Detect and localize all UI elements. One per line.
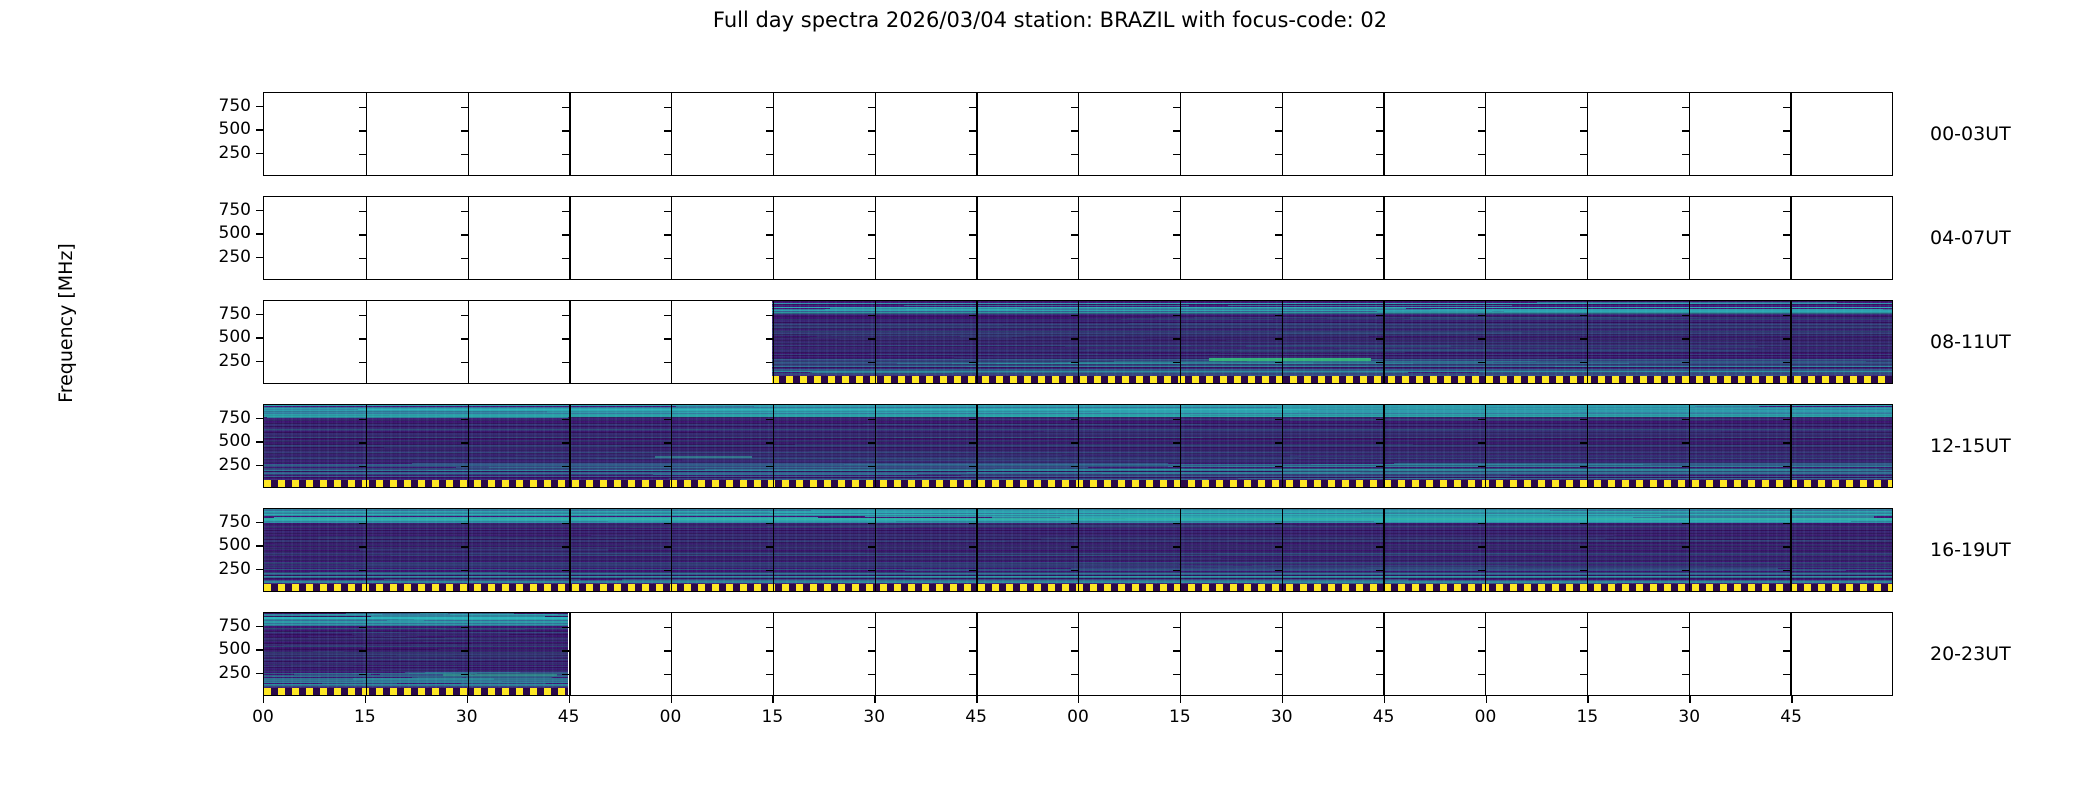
y-tick-mark [766, 130, 773, 131]
y-tick-mark [664, 107, 671, 108]
y-tick-mark [1173, 315, 1180, 316]
y-tick-mark [1173, 338, 1180, 339]
y-tick-mark [1478, 315, 1485, 316]
column-separator [976, 93, 977, 175]
y-tick-mark [1783, 211, 1790, 212]
x-tick-mark [1282, 696, 1283, 703]
y-tick-mark [868, 523, 875, 524]
y-tick-mark [969, 338, 976, 339]
column-separator [1689, 197, 1690, 279]
y-tick-mark [1173, 419, 1180, 420]
y-tick-mark [1376, 130, 1383, 131]
x-tick-label: 45 [558, 707, 580, 727]
y-tick-mark [1478, 570, 1485, 571]
y-tick-mark [1682, 627, 1689, 628]
column-separator [1282, 93, 1283, 175]
x-tick-label: 00 [1067, 707, 1089, 727]
y-tick-mark [461, 627, 468, 628]
y-tick-mark [1071, 258, 1078, 259]
y-tick-mark [1376, 154, 1383, 155]
y-tick-mark [969, 362, 976, 363]
spectrogram-row: 250500750 [263, 300, 1893, 384]
y-tick-mark [1376, 234, 1383, 235]
y-tick-mark [1071, 211, 1078, 212]
column-separator [1790, 93, 1791, 175]
y-tick-mark [1478, 211, 1485, 212]
y-tick-mark [868, 211, 875, 212]
x-tick-label: 30 [1678, 707, 1700, 727]
y-tick-mark [1682, 338, 1689, 339]
y-tick-mark [1682, 211, 1689, 212]
y-tick-mark [1580, 258, 1587, 259]
y-tick-label: 250 [219, 247, 251, 267]
y-tick-mark [562, 466, 569, 467]
y-tick-mark [1682, 570, 1689, 571]
column-separator [773, 197, 774, 279]
y-tick-mark [1783, 627, 1790, 628]
x-tick-label: 45 [1373, 707, 1395, 727]
y-tick-mark [562, 315, 569, 316]
column-separator [671, 405, 672, 487]
y-tick-mark [359, 107, 366, 108]
y-tick-mark [562, 627, 569, 628]
y-tick-label: 500 [219, 119, 251, 139]
column-separator [1790, 301, 1791, 383]
row-time-label: 00-03UT [1930, 123, 2011, 145]
y-tick-mark [1071, 650, 1078, 651]
column-separator [1485, 301, 1486, 383]
y-tick-mark [664, 674, 671, 675]
y-tick-mark [1275, 442, 1282, 443]
y-tick-mark [256, 465, 263, 466]
y-tick-mark [1478, 130, 1485, 131]
y-tick-mark [359, 523, 366, 524]
y-tick-label: 250 [219, 455, 251, 475]
column-separator [976, 197, 977, 279]
x-tick-label: 30 [456, 707, 478, 727]
y-tick-mark [256, 257, 263, 258]
y-tick-mark [664, 338, 671, 339]
y-tick-mark [1478, 234, 1485, 235]
x-tick-mark [976, 696, 977, 703]
y-tick-mark [461, 674, 468, 675]
x-tick-mark [1689, 696, 1690, 703]
y-tick-mark [461, 154, 468, 155]
y-tick-mark [1275, 234, 1282, 235]
y-tick-mark [664, 570, 671, 571]
y-tick-mark [359, 211, 366, 212]
y-tick-mark [359, 315, 366, 316]
y-tick-mark [1376, 442, 1383, 443]
column-separator [1587, 301, 1588, 383]
y-tick-mark [1376, 211, 1383, 212]
y-tick-label: 500 [219, 639, 251, 659]
y-tick-mark [1682, 234, 1689, 235]
column-separator [1587, 197, 1588, 279]
y-tick-mark [766, 315, 773, 316]
y-tick-mark [256, 522, 263, 523]
y-tick-mark [868, 258, 875, 259]
y-tick-mark [969, 234, 976, 235]
column-separator [1078, 405, 1079, 487]
y-tick-mark [1478, 258, 1485, 259]
column-separator [569, 405, 570, 487]
y-tick-mark [562, 570, 569, 571]
column-separator [773, 509, 774, 591]
y-tick-mark [868, 338, 875, 339]
y-tick-mark [461, 211, 468, 212]
spectrogram-figure: Full day spectra 2026/03/04 station: BRA… [0, 0, 2100, 800]
y-tick-mark [1173, 234, 1180, 235]
y-tick-mark [256, 361, 263, 362]
column-separator [1282, 405, 1283, 487]
x-tick-label: 00 [252, 707, 274, 727]
x-tick-label: 30 [1271, 707, 1293, 727]
y-tick-label: 500 [219, 327, 251, 347]
y-tick-mark [1071, 546, 1078, 547]
column-separator [1282, 197, 1283, 279]
y-tick-mark [1376, 258, 1383, 259]
y-tick-mark [1580, 442, 1587, 443]
y-tick-mark [1071, 442, 1078, 443]
y-tick-mark [1071, 362, 1078, 363]
y-tick-mark [1376, 362, 1383, 363]
y-tick-mark [1682, 466, 1689, 467]
y-tick-label: 750 [219, 96, 251, 116]
x-tick-label: 15 [354, 707, 376, 727]
column-separator [1587, 509, 1588, 591]
y-tick-mark [562, 650, 569, 651]
x-tick-label: 15 [1169, 707, 1191, 727]
y-tick-mark [1173, 546, 1180, 547]
y-tick-mark [969, 211, 976, 212]
y-tick-mark [1376, 419, 1383, 420]
y-tick-label: 750 [219, 408, 251, 428]
y-tick-mark [766, 419, 773, 420]
y-tick-mark [1580, 211, 1587, 212]
y-tick-mark [1783, 258, 1790, 259]
y-tick-mark [969, 627, 976, 628]
y-tick-mark [1478, 674, 1485, 675]
y-tick-mark [1783, 338, 1790, 339]
y-tick-mark [969, 650, 976, 651]
y-tick-mark [664, 154, 671, 155]
y-tick-mark [359, 258, 366, 259]
x-tick-label: 15 [762, 707, 784, 727]
y-tick-mark [562, 419, 569, 420]
y-tick-mark [1275, 107, 1282, 108]
y-tick-mark [256, 441, 263, 442]
y-tick-mark [1682, 674, 1689, 675]
y-tick-label: 500 [219, 223, 251, 243]
x-tick-mark [1384, 696, 1385, 703]
y-tick-mark [1071, 627, 1078, 628]
y-tick-mark [256, 106, 263, 107]
column-separator [976, 301, 977, 383]
y-tick-mark [1478, 338, 1485, 339]
row-time-label: 04-07UT [1930, 227, 2011, 249]
y-tick-mark [1580, 362, 1587, 363]
x-tick-mark [1791, 696, 1792, 703]
column-separator [671, 509, 672, 591]
y-tick-mark [562, 258, 569, 259]
y-tick-mark [1275, 154, 1282, 155]
y-tick-mark [766, 362, 773, 363]
y-tick-mark [868, 546, 875, 547]
y-tick-mark [1275, 130, 1282, 131]
y-tick-mark [1580, 130, 1587, 131]
y-tick-mark [562, 338, 569, 339]
y-tick-mark [1783, 442, 1790, 443]
x-tick-mark [263, 696, 264, 703]
y-tick-label: 250 [219, 559, 251, 579]
y-axis-label: Frequency [MHz] [55, 193, 77, 453]
y-tick-mark [969, 466, 976, 467]
column-separator [1587, 405, 1588, 487]
y-tick-label: 250 [219, 663, 251, 683]
y-tick-mark [461, 546, 468, 547]
column-separator [1180, 197, 1181, 279]
y-tick-mark [1580, 338, 1587, 339]
y-tick-mark [461, 466, 468, 467]
y-tick-mark [461, 523, 468, 524]
y-tick-mark [461, 419, 468, 420]
y-tick-mark [359, 419, 366, 420]
y-tick-mark [1071, 419, 1078, 420]
y-tick-mark [664, 627, 671, 628]
y-tick-mark [359, 362, 366, 363]
column-separator [671, 93, 672, 175]
y-tick-mark [766, 570, 773, 571]
y-tick-mark [1376, 570, 1383, 571]
column-separator [1689, 301, 1690, 383]
y-tick-mark [1478, 546, 1485, 547]
y-tick-mark [1275, 466, 1282, 467]
column-separator [569, 197, 570, 279]
y-tick-mark [664, 315, 671, 316]
y-tick-mark [1071, 674, 1078, 675]
column-separator [773, 93, 774, 175]
column-separator [875, 93, 876, 175]
plot-axes [263, 196, 1893, 280]
y-tick-mark [664, 362, 671, 363]
y-tick-mark [461, 234, 468, 235]
column-separator [1383, 197, 1384, 279]
y-tick-mark [969, 154, 976, 155]
column-separator [1383, 301, 1384, 383]
y-tick-mark [1376, 315, 1383, 316]
y-tick-mark [1071, 466, 1078, 467]
y-tick-mark [1783, 130, 1790, 131]
row-time-label: 16-19UT [1930, 539, 2011, 561]
column-separator [1180, 93, 1181, 175]
column-separator [1587, 93, 1588, 175]
x-tick-label: 45 [965, 707, 987, 727]
y-tick-mark [1173, 258, 1180, 259]
y-tick-mark [1173, 442, 1180, 443]
column-separator [1180, 613, 1181, 695]
y-tick-mark [1376, 674, 1383, 675]
marker-dashed-line [772, 376, 1892, 383]
column-separator [1078, 509, 1079, 591]
y-tick-mark [256, 569, 263, 570]
y-tick-mark [664, 234, 671, 235]
column-separator [1485, 509, 1486, 591]
column-separator [1689, 93, 1690, 175]
y-tick-mark [766, 107, 773, 108]
y-tick-mark [1071, 107, 1078, 108]
y-tick-mark [868, 442, 875, 443]
column-separator [1180, 405, 1181, 487]
y-tick-mark [766, 627, 773, 628]
y-tick-mark [461, 362, 468, 363]
y-tick-mark [256, 337, 263, 338]
x-tick-label: 30 [863, 707, 885, 727]
y-tick-mark [1783, 466, 1790, 467]
y-tick-mark [969, 258, 976, 259]
column-separator [1180, 301, 1181, 383]
y-tick-mark [1275, 570, 1282, 571]
plot-axes [263, 612, 1893, 696]
column-separator [569, 93, 570, 175]
column-separator [1282, 613, 1283, 695]
y-tick-mark [1580, 627, 1587, 628]
y-tick-mark [664, 546, 671, 547]
y-tick-mark [1682, 130, 1689, 131]
column-separator [1383, 93, 1384, 175]
y-tick-mark [461, 130, 468, 131]
column-separator [1485, 405, 1486, 487]
y-tick-mark [664, 258, 671, 259]
y-tick-mark [1376, 466, 1383, 467]
spectrogram-row: 250500750 [263, 196, 1893, 280]
y-tick-mark [1071, 570, 1078, 571]
y-tick-mark [1275, 258, 1282, 259]
y-tick-mark [256, 233, 263, 234]
y-tick-mark [1783, 234, 1790, 235]
y-tick-mark [256, 129, 263, 130]
y-tick-mark [1478, 362, 1485, 363]
y-tick-mark [1071, 338, 1078, 339]
y-tick-label: 250 [219, 143, 251, 163]
y-tick-mark [1173, 211, 1180, 212]
column-separator [671, 613, 672, 695]
spectrogram-row: 250500750 [263, 508, 1893, 592]
y-tick-mark [868, 627, 875, 628]
x-tick-mark [1078, 696, 1079, 703]
y-tick-mark [1071, 523, 1078, 524]
y-tick-mark [461, 570, 468, 571]
y-tick-mark [562, 674, 569, 675]
x-tick-label: 15 [1577, 707, 1599, 727]
x-tick-label: 00 [1475, 707, 1497, 727]
y-tick-mark [1376, 107, 1383, 108]
spectrogram-row: 2505007500015304500153045001530450015304… [263, 612, 1893, 696]
y-tick-mark [766, 674, 773, 675]
column-separator [671, 197, 672, 279]
column-separator [366, 197, 367, 279]
y-tick-mark [1275, 362, 1282, 363]
y-tick-mark [664, 523, 671, 524]
y-tick-mark [766, 234, 773, 235]
y-tick-mark [868, 570, 875, 571]
y-tick-mark [1783, 546, 1790, 547]
column-separator [875, 405, 876, 487]
y-tick-mark [1580, 315, 1587, 316]
y-tick-mark [868, 154, 875, 155]
spectrogram-row: 250500750 [263, 92, 1893, 176]
y-tick-mark [969, 570, 976, 571]
y-tick-mark [969, 546, 976, 547]
y-tick-mark [1173, 570, 1180, 571]
y-tick-label: 750 [219, 512, 251, 532]
y-tick-mark [256, 545, 263, 546]
y-tick-mark [1682, 546, 1689, 547]
y-tick-mark [969, 442, 976, 443]
y-tick-mark [868, 674, 875, 675]
x-tick-mark [1486, 696, 1487, 703]
y-tick-mark [359, 650, 366, 651]
y-tick-mark [359, 442, 366, 443]
y-tick-mark [1783, 362, 1790, 363]
x-tick-mark [671, 696, 672, 703]
column-separator [875, 509, 876, 591]
column-separator [468, 405, 469, 487]
y-tick-mark [1682, 154, 1689, 155]
y-tick-mark [1783, 107, 1790, 108]
y-tick-mark [1580, 107, 1587, 108]
y-tick-mark [1173, 154, 1180, 155]
y-tick-mark [1275, 546, 1282, 547]
y-tick-mark [969, 130, 976, 131]
y-tick-mark [1478, 442, 1485, 443]
y-tick-mark [969, 315, 976, 316]
y-tick-mark [1478, 627, 1485, 628]
y-tick-mark [766, 154, 773, 155]
y-tick-label: 750 [219, 304, 251, 324]
y-tick-mark [969, 107, 976, 108]
y-tick-label: 750 [219, 200, 251, 220]
plot-axes [263, 404, 1893, 488]
column-separator [1790, 613, 1791, 695]
y-tick-mark [562, 442, 569, 443]
y-tick-mark [461, 442, 468, 443]
column-separator [1485, 93, 1486, 175]
column-separator [468, 93, 469, 175]
y-tick-mark [664, 442, 671, 443]
y-tick-mark [969, 674, 976, 675]
y-tick-mark [1682, 107, 1689, 108]
y-tick-mark [1580, 154, 1587, 155]
column-separator [1282, 509, 1283, 591]
y-tick-mark [664, 211, 671, 212]
y-tick-mark [1275, 674, 1282, 675]
y-tick-mark [1682, 650, 1689, 651]
y-tick-mark [562, 362, 569, 363]
plot-axes [263, 300, 1893, 384]
y-tick-mark [868, 466, 875, 467]
y-tick-mark [562, 130, 569, 131]
column-separator [1689, 405, 1690, 487]
y-tick-mark [461, 107, 468, 108]
y-tick-mark [1275, 419, 1282, 420]
y-tick-mark [1783, 650, 1790, 651]
y-tick-mark [1275, 211, 1282, 212]
y-tick-mark [1071, 234, 1078, 235]
y-tick-mark [1376, 523, 1383, 524]
y-tick-mark [1580, 546, 1587, 547]
y-tick-mark [562, 154, 569, 155]
